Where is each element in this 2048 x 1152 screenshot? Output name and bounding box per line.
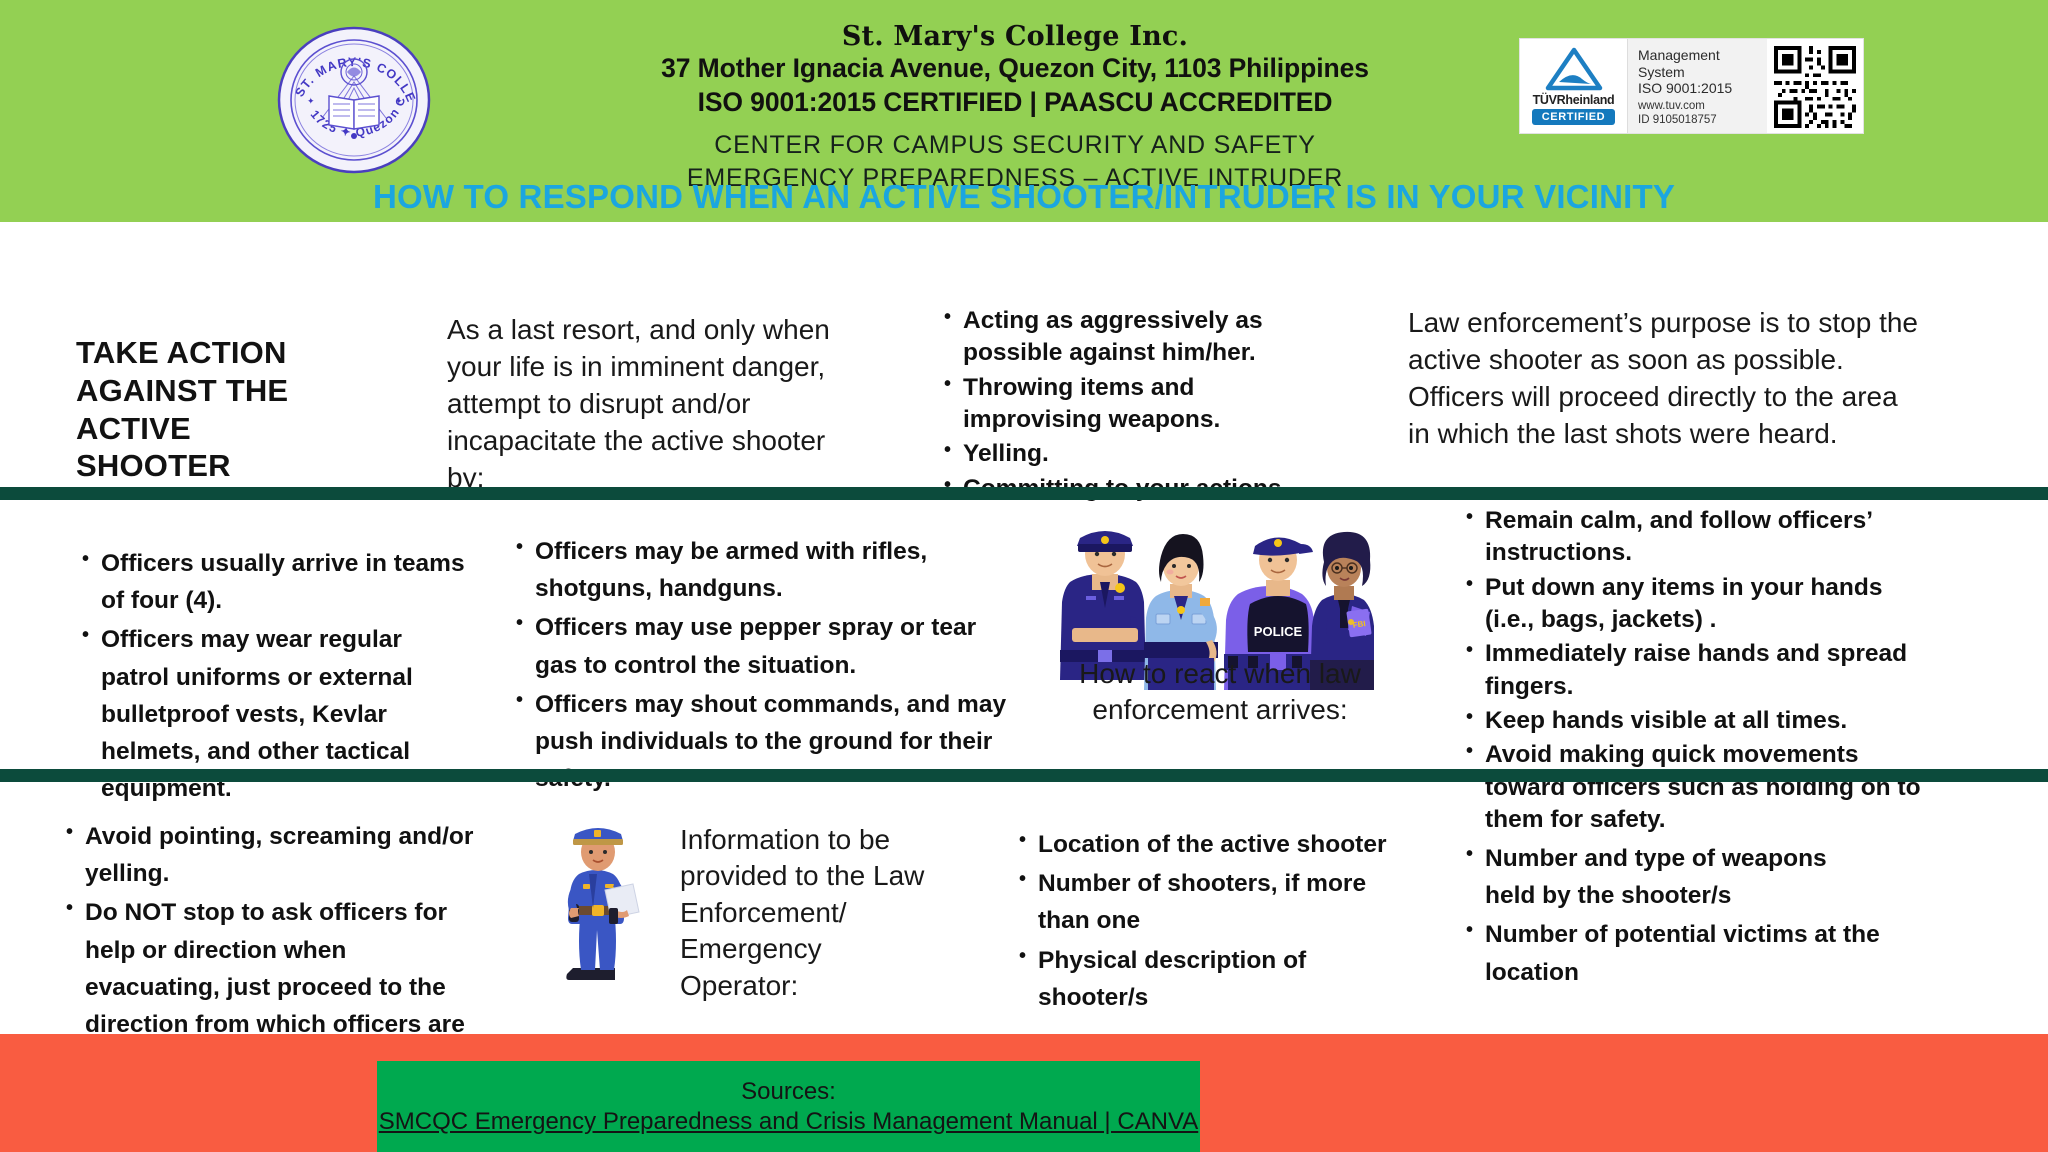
take-action-heading: TAKE ACTION AGAINST THE ACTIVE SHOOTER [76,334,326,485]
list-item: Officers may be armed with rifles, shotg… [512,533,1012,607]
college-seal: ST. MARY'S COLLEGE INC. 1725 ✦ Quezon Ci… [277,26,432,174]
sources-label: Sources: [377,1078,1200,1106]
tuv-logo: TÜVRheinland CERTIFIED [1520,39,1628,133]
svg-text:✦: ✦ [395,96,403,106]
sources-box [377,1061,1200,1152]
list-item: Put down any items in your hands (i.e., … [1462,572,1932,637]
police-vest-label: POLICE [1254,624,1303,639]
page-title: HOW TO RESPOND WHEN AN ACTIVE SHOOTER/IN… [0,178,2048,216]
organization-name: St. Mary's College Inc. [470,22,1560,52]
list-item: Number and type of weapons held by the s… [1462,840,1882,914]
list-item: Avoid making quick movements toward offi… [1462,739,1932,836]
last-resort-paragraph: As a last resort, and only when your lif… [447,312,867,497]
list-item: Yelling. [940,438,1340,470]
fbi-folder-label: FBI [1352,619,1366,630]
list-item: Officers usually arrive in teams of four… [78,545,468,619]
law-enforcement-arrives-caption: How to react when law enforcement arrive… [1010,656,1430,728]
tuv-brand-name: TÜVRheinland [1533,93,1615,107]
center-name-line1: CENTER FOR CAMPUS SECURITY AND SAFETY [470,129,1560,162]
list-item: Throwing items and improvising weapons. [940,372,1340,437]
tuv-details: Management System ISO 9001:2015 www.tuv.… [1628,39,1767,133]
accreditation-line: ISO 9001:2015 CERTIFIED | PAASCU ACCREDI… [470,86,1560,120]
list-item: Number of potential victims at the locat… [1462,916,1882,990]
header-text-block: St. Mary's College Inc. 37 Mother Ignaci… [470,22,1560,195]
list-item: Acting as aggressively as possible again… [940,305,1340,370]
tuv-id: ID 9105018757 [1638,114,1717,128]
aggressive-actions-list: Acting as aggressively as possible again… [940,305,1340,507]
officer-equipment-list: Officers may be armed with rifles, shotg… [512,533,1012,800]
emergency-operator-illustration [545,818,655,993]
operator-info-list-1: Location of the active shooter Number of… [1015,826,1395,1018]
qr-code-icon [1767,39,1863,133]
how-to-react-list: Remain calm, and follow officers’ instru… [1462,505,1932,838]
section-divider-2 [0,769,2048,782]
tuv-ms-line1: Management [1638,47,1767,64]
list-item: Keep hands visible at all times. [1462,705,1932,737]
tuv-triangle-icon [1543,46,1605,92]
tuv-ms-line3: ISO 9001:2015 [1638,80,1767,97]
operator-info-caption: Information to be provided to the Law En… [680,822,930,1004]
operator-info-list-2: Number and type of weapons held by the s… [1462,840,1882,993]
list-item: Immediately raise hands and spread finge… [1462,638,1932,703]
organization-address: 37 Mother Ignacia Avenue, Quezon City, 1… [470,52,1560,86]
tuv-url: www.tuv.com [1638,100,1717,114]
list-item: Officers may use pepper spray or tear ga… [512,609,1012,683]
law-enforcement-purpose-text: Law enforcement’s purpose is to stop the… [1408,305,1918,453]
list-item: Remain calm, and follow officers’ instru… [1462,505,1932,570]
svg-text:✦: ✦ [307,96,315,106]
list-item: Avoid pointing, screaming and/or yelling… [62,818,482,892]
tuv-certification-badge: TÜVRheinland CERTIFIED Management System… [1519,38,1864,134]
list-item: Physical description of shooter/s [1015,942,1395,1016]
sources-link[interactable]: SMCQC Emergency Preparedness and Crisis … [377,1108,1200,1136]
tuv-certified-label: CERTIFIED [1532,109,1615,125]
section-divider-1 [0,487,2048,500]
list-item: Number of shooters, if more than one [1015,865,1395,939]
list-item: Location of the active shooter [1015,826,1395,863]
tuv-ms-line2: System [1638,64,1767,81]
